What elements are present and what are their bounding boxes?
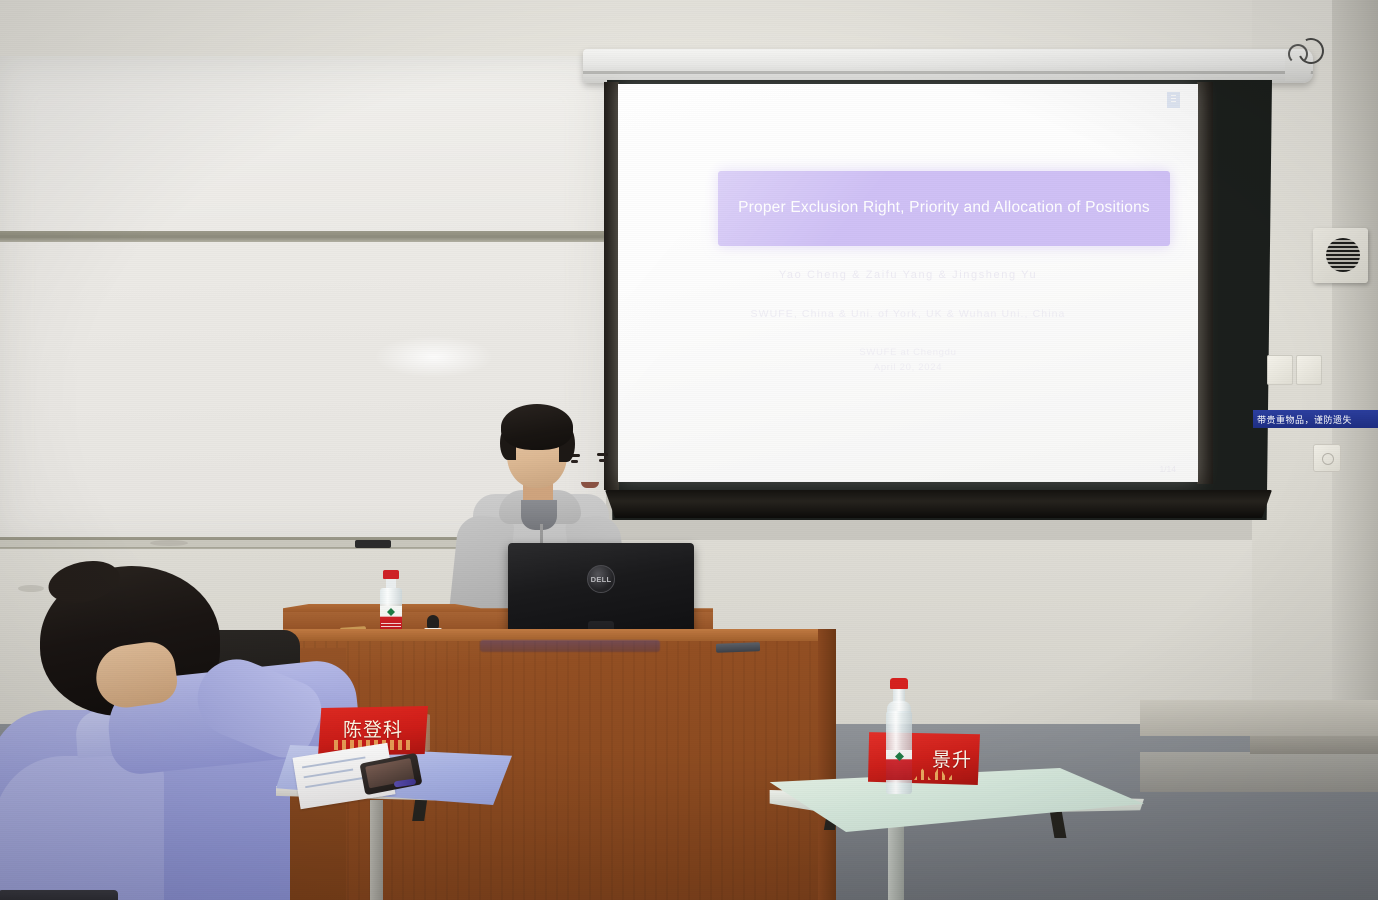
wall-notice-text: 带贵重物品，谨防遗失: [1257, 413, 1352, 426]
presenter-eye: [571, 460, 578, 463]
whiteboard-marker: [355, 540, 391, 548]
slide-affiliations: SWUFE, China & Uni. of York, UK & Wuhan …: [618, 308, 1198, 320]
paper-line: [304, 769, 354, 779]
water-bottle-table: [882, 678, 916, 794]
slide-authors: Yao Cheng & Zaifu Yang & Jingsheng Yu: [618, 269, 1198, 281]
wall-notice-sign: 带贵重物品，谨防遗失: [1253, 410, 1378, 428]
presenter-eyebrow: [597, 453, 608, 456]
baseboard: [1140, 700, 1378, 736]
projection-screen-case: [583, 49, 1313, 83]
attendee-shoulder: [0, 756, 164, 900]
slide-venue-place: SWUFE at Chengdu: [618, 346, 1198, 361]
base-strip: [1250, 736, 1378, 754]
whiteboard-glare: [374, 336, 494, 378]
slide-venue-date: April 20, 2024: [618, 361, 1198, 376]
screen-cord-icon: [1288, 44, 1308, 64]
screen-edge-right: [1197, 82, 1213, 484]
wall-outlet[interactable]: [1313, 444, 1341, 472]
microphone-head-icon: [427, 615, 439, 629]
presenter-eye: [599, 459, 606, 462]
light-switch-plate[interactable]: [1296, 355, 1322, 385]
nameplate-text: 陈登科: [343, 715, 403, 742]
document-icon: [1167, 92, 1180, 108]
dell-logo-icon: DELL: [587, 565, 615, 593]
attendee-belt: [0, 890, 118, 900]
slide-venue: SWUFE at Chengdu April 20, 2024: [618, 346, 1198, 375]
right-wall-edge: [1332, 0, 1378, 760]
presenter-mouth: [581, 482, 599, 488]
mint-table-leg: [888, 820, 904, 900]
case-seam: [583, 71, 1313, 74]
presenter-hair: [501, 404, 573, 450]
bottle-cap: [890, 678, 908, 689]
projection-screen-bottom-bar: [605, 490, 1272, 518]
slide-number: 1/14: [1159, 464, 1176, 474]
monitor-brand-label: DELL: [591, 575, 612, 584]
nameplate-text: 景升: [932, 745, 972, 772]
paper-line: [305, 777, 363, 788]
presentation-remote[interactable]: [716, 642, 760, 653]
slide-title-band: Proper Exclusion Right, Priority and All…: [718, 171, 1170, 246]
slide-title: Proper Exclusion Right, Priority and All…: [720, 197, 1168, 219]
light-switch-plate[interactable]: [1267, 355, 1293, 385]
paper-line: [302, 756, 366, 768]
podium-right-edge: [818, 629, 836, 900]
wall-scuff: [150, 540, 188, 546]
presentation-slide: Proper Exclusion Right, Priority and All…: [618, 84, 1198, 482]
podium-desk-items: [480, 640, 660, 652]
wall-speaker: [1313, 228, 1368, 283]
tablet-support-leg: [370, 800, 383, 900]
presenter-inner-shirt: [521, 500, 557, 530]
whiteboard-rail-top: [0, 231, 606, 242]
speaker-grill-icon: [1326, 238, 1360, 272]
lecture-room-photo: Proper Exclusion Right, Priority and All…: [0, 0, 1378, 900]
floor-panel: [1140, 752, 1378, 792]
